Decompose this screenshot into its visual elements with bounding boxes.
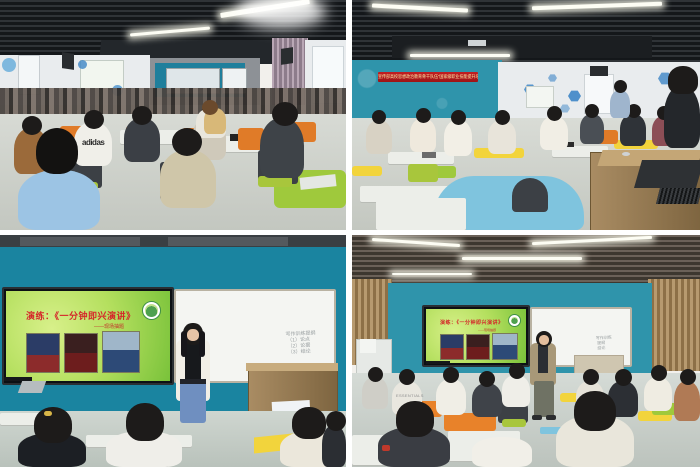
- audience-head: [651, 365, 667, 381]
- slide-logo: [508, 314, 521, 327]
- slide-subtitle: ——现场抽题: [478, 328, 496, 332]
- presenter-face: [539, 335, 549, 345]
- student-head: [495, 110, 510, 125]
- student-head: [416, 108, 431, 123]
- presenter-face: [187, 329, 199, 341]
- slide-thumbnail: [26, 333, 60, 373]
- instructor-foreground: [664, 86, 700, 148]
- ceiling-light: [392, 273, 472, 275]
- instructor-head: [668, 66, 698, 94]
- presenter-top: [538, 345, 548, 373]
- student-head: [547, 106, 562, 121]
- slide-thumbnail: [102, 331, 140, 373]
- presenter-jeans: [180, 381, 206, 423]
- audience-back: [502, 375, 530, 407]
- ceiling-panel: [168, 237, 288, 246]
- slide: 演练：《一分钟即兴演讲》 ——现场抽题: [6, 291, 170, 381]
- student-head: [132, 106, 152, 125]
- audience-head: [615, 369, 632, 386]
- ceiling-light: [462, 257, 582, 260]
- student-head: [172, 128, 202, 156]
- ceiling-light: [410, 54, 510, 57]
- screen-mount: [18, 381, 46, 393]
- slide-thumbnail: [492, 333, 518, 360]
- wall-poster: [526, 86, 554, 108]
- hair-tie: [44, 411, 52, 416]
- slide-logo: [142, 301, 161, 320]
- chair: [512, 178, 548, 212]
- student-seated: [540, 116, 568, 150]
- student-head: [272, 102, 298, 126]
- student-seated: [410, 118, 436, 152]
- audience-head: [126, 403, 164, 441]
- slide-thumbnail: [440, 334, 464, 360]
- badge: [382, 445, 390, 451]
- slide: 演练：《一分钟即兴演讲》 ——现场抽题: [426, 309, 526, 363]
- speaker-box: [590, 66, 608, 76]
- audience-foreground: [472, 437, 532, 467]
- speaker-box: [281, 47, 293, 65]
- presenter-hair: [199, 331, 205, 357]
- desk: [376, 198, 466, 230]
- wall-dot-decor: [78, 60, 87, 69]
- photo-panel-bottom-right: 演练：《一分钟即兴演讲》 ——现场抽题 写作训练 提纲 结论: [352, 235, 700, 467]
- photo-panel-top-left: adidas: [0, 0, 346, 230]
- student-back-foreground: [160, 150, 216, 208]
- person-standing: [610, 90, 630, 118]
- audience-head: [583, 369, 599, 385]
- student-head: [36, 128, 78, 174]
- event-banner: “中央宣传部高校思想政治教育骨干队伍”国家级职业技能提升培训班: [378, 72, 478, 82]
- audience-head: [680, 369, 696, 385]
- audience-head: [509, 363, 525, 379]
- slide-thumbnail: [466, 334, 490, 360]
- desk: [388, 152, 454, 164]
- slide-subtitle: ——现场抽题: [94, 323, 124, 330]
- audience-head: [396, 401, 434, 437]
- presenter-shoe: [532, 415, 542, 420]
- audience-head: [574, 391, 616, 431]
- audience-head: [34, 407, 72, 443]
- student-back-foreground: [260, 118, 304, 178]
- audience-head: [368, 367, 383, 382]
- lectern-top: [246, 363, 338, 371]
- audience-back: [436, 379, 466, 415]
- student-seated: [580, 114, 604, 144]
- ceiling-vent: [468, 40, 486, 46]
- student-seated: [366, 120, 392, 154]
- audience-back: [472, 383, 502, 417]
- student-seated: [488, 120, 516, 154]
- student-head: [372, 110, 386, 124]
- presenter-hair: [181, 331, 187, 357]
- photo-panel-bottom-left: 演练：《一分钟即兴演讲》 ——现场抽题 写作训练提纲 （1）论点 （2）论据 （…: [0, 235, 346, 467]
- photo-panel-top-right: “中央宣传部高校思想政治教育骨干队伍”国家级职业技能提升培训班: [352, 0, 700, 230]
- hoodie-text: ESSENTIALS: [396, 393, 420, 399]
- wall-dot-decor: [2, 58, 16, 72]
- presenter-belt: [180, 379, 206, 384]
- ceiling-panel: [20, 237, 140, 246]
- tablet-on-desk: [422, 152, 436, 158]
- student-head: [202, 100, 218, 115]
- speaker-box: [62, 52, 74, 70]
- audience-head: [326, 411, 346, 431]
- lectern-mouse: [622, 152, 630, 156]
- audience-head: [479, 371, 495, 387]
- chair-green: [408, 164, 438, 182]
- slide-title: 演练：《一分钟即兴演讲》: [440, 319, 504, 326]
- smart-screen: 演练：《一分钟即兴演讲》 ——现场抽题: [422, 305, 530, 367]
- wood-slat-wall: [648, 279, 700, 371]
- audience-head: [292, 407, 326, 439]
- audience-back: [322, 425, 346, 467]
- photo-collage: adidas: [0, 0, 700, 467]
- smart-screen: 演练：《一分钟即兴演讲》 ——现场抽题: [2, 287, 174, 385]
- student-seated: [444, 120, 472, 156]
- collage-gutter-horizontal: [0, 230, 700, 235]
- person-head: [614, 80, 627, 93]
- audience-head: [443, 367, 459, 383]
- slide-thumbnail: [64, 333, 98, 373]
- slide-title: 演练：《一分钟即兴演讲》: [26, 309, 136, 322]
- lectern-monitor: [634, 160, 700, 188]
- screen-control-bar: [426, 361, 450, 364]
- event-banner-text: “中央宣传部高校思想政治教育骨干队伍”国家级职业技能提升培训班: [378, 74, 478, 81]
- poster: [360, 339, 376, 353]
- phone-on-desk: [230, 134, 238, 141]
- student-back-foreground: [18, 170, 100, 230]
- student-head: [451, 110, 466, 125]
- student-head: [585, 104, 599, 118]
- desk-yellow: [352, 166, 382, 176]
- chair-green: [502, 419, 526, 427]
- student-head: [22, 116, 42, 135]
- presenter-shoe: [546, 415, 556, 420]
- student-seated: [620, 114, 646, 146]
- audience-back: [674, 381, 700, 421]
- audience-back: [644, 377, 672, 411]
- audience-head: [399, 369, 415, 385]
- lectern-keyboard: [656, 188, 700, 204]
- presenter-trousers: [534, 381, 554, 417]
- jacket-brand-text: adidas: [82, 138, 108, 147]
- student-head: [84, 110, 104, 129]
